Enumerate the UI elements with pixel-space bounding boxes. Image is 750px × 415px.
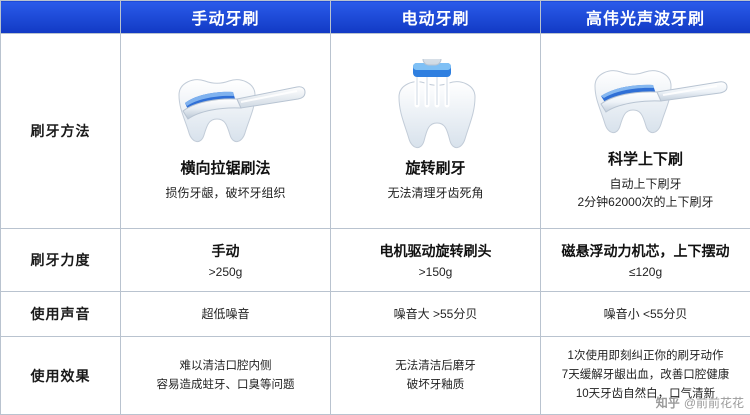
sonic-method-line-1: 自动上下刷牙 [541,175,750,193]
header-col-manual: 手动牙刷 [121,1,331,34]
manual-effect-line-2: 容易造成蛀牙、口臭等问题 [121,376,330,395]
sonic-effect-line-2: 7天缓解牙龈出血，改善口腔健康 [541,366,750,385]
electric-force-value: >150g [331,265,540,279]
table-body: 刷牙方法 [1,34,750,415]
cell-sonic-brushing-method: 科学上下刷 自动上下刷牙 2分钟62000次的上下刷牙 [541,34,750,229]
manual-method-line-1: 损伤牙龈，破坏牙组织 [121,184,330,202]
cell-manual-brushing-force: 手动 >250g [121,228,331,292]
electric-effect-line-1: 无法清洁后磨牙 [331,357,540,376]
cell-manual-effect: 难以清洁口腔内侧 容易造成蛀牙、口臭等问题 [121,337,331,415]
electric-sound-value: 噪音大 >55分贝 [331,305,540,324]
header-corner-cell [1,1,121,34]
electric-force-title: 电机驱动旋转刷头 [331,241,540,261]
header-col-electric: 电动牙刷 [331,1,541,34]
table-header: 手动牙刷 电动牙刷 高伟光声波牙刷 [1,1,750,34]
sonic-sound-value: 噪音小 <55分贝 [541,305,750,324]
toothbrush-comparison-table: 手动牙刷 电动牙刷 高伟光声波牙刷 刷牙方法 [0,0,750,415]
table-row-brushing-method: 刷牙方法 [1,34,750,229]
manual-force-value: >250g [121,265,330,279]
table-row-sound: 使用声音 超低噪音 噪音大 >55分贝 噪音小 <55分贝 [1,292,750,337]
comparison-table-container: 手动牙刷 电动牙刷 高伟光声波牙刷 刷牙方法 [0,0,750,415]
cell-manual-sound: 超低噪音 [121,292,331,337]
manual-toothbrush-icon [121,59,330,155]
cell-sonic-effect: 1次使用即刻纠正你的刷牙动作 7天缓解牙龈出血，改善口腔健康 10天牙齿自然白，… [541,337,750,415]
electric-effect-line-2: 破坏牙釉质 [331,376,540,395]
electric-method-line-1: 无法清理牙齿死角 [331,184,540,202]
sonic-toothbrush-icon [541,50,750,146]
sonic-effect-line-3: 10天牙齿自然白，口气清新 [541,385,750,404]
cell-electric-brushing-force: 电机驱动旋转刷头 >150g [331,228,541,292]
manual-force-title: 手动 [121,241,330,261]
table-row-brushing-force: 刷牙力度 手动 >250g 电机驱动旋转刷头 >150g 磁悬浮动力机芯，上下摆… [1,228,750,292]
row-label-sound: 使用声音 [1,292,121,337]
cell-electric-effect: 无法清洁后磨牙 破坏牙釉质 [331,337,541,415]
sonic-method-line-2: 2分钟62000次的上下刷牙 [541,193,750,211]
row-label-effect: 使用效果 [1,337,121,415]
cell-manual-brushing-method: 横向拉锯刷法 损伤牙龈，破坏牙组织 [121,34,331,229]
electric-method-title: 旋转刷牙 [331,157,540,178]
cell-sonic-sound: 噪音小 <55分贝 [541,292,750,337]
row-label-brushing-method: 刷牙方法 [1,34,121,229]
sonic-method-title: 科学上下刷 [541,148,750,169]
cell-electric-brushing-method: 旋转刷牙 无法清理牙齿死角 [331,34,541,229]
manual-sound-value: 超低噪音 [121,305,330,324]
manual-method-title: 横向拉锯刷法 [121,157,330,178]
sonic-force-value: ≤120g [541,265,750,279]
electric-toothbrush-icon [331,59,540,155]
row-label-brushing-force: 刷牙力度 [1,228,121,292]
cell-electric-sound: 噪音大 >55分贝 [331,292,541,337]
header-row: 手动牙刷 电动牙刷 高伟光声波牙刷 [1,1,750,34]
table-row-effect: 使用效果 难以清洁口腔内侧 容易造成蛀牙、口臭等问题 无法清洁后磨牙 破坏牙釉质… [1,337,750,415]
cell-sonic-brushing-force: 磁悬浮动力机芯，上下摆动 ≤120g [541,228,750,292]
sonic-force-title: 磁悬浮动力机芯，上下摆动 [541,241,750,261]
sonic-effect-line-1: 1次使用即刻纠正你的刷牙动作 [541,347,750,366]
header-col-sonic: 高伟光声波牙刷 [541,1,750,34]
manual-effect-line-1: 难以清洁口腔内侧 [121,357,330,376]
